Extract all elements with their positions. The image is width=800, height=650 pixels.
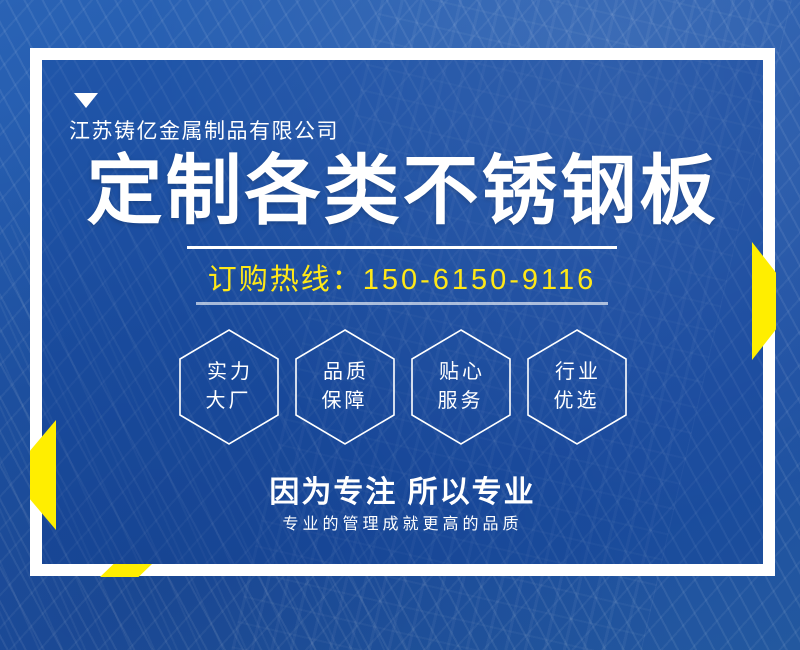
hotline-rule-bottom xyxy=(196,302,609,305)
badge-row: 实力 大厂 品质 保障 贴心 服务 行业 优选 xyxy=(42,328,763,446)
badge-hexagon-1: 实力 大厂 xyxy=(177,328,281,446)
hotline-number: 150-6150-9116 xyxy=(363,264,597,296)
badge-hexagon-4: 行业 优选 xyxy=(525,328,629,446)
badge-hexagon-3: 贴心 服务 xyxy=(409,328,513,446)
headline: 定制各类不锈钢板 xyxy=(42,154,763,230)
hotline-label: 订购热线： xyxy=(208,264,363,296)
badge-label-4: 行业 优选 xyxy=(552,358,601,416)
company-name: 江苏铸亿金属制品有限公司 xyxy=(69,115,339,145)
banner-content: 江苏铸亿金属制品有限公司 定制各类不锈钢板 订购热线：150-6150-9116… xyxy=(42,60,763,564)
slogan-subtitle: 专业的管理成就更高的品质 xyxy=(42,510,763,534)
badge-label-3: 贴心 服务 xyxy=(436,358,485,416)
hotline-text: 订购热线：150-6150-9116 xyxy=(187,249,617,302)
badge-label-1: 实力 大厂 xyxy=(204,358,253,416)
badge-hexagon-2: 品质 保障 xyxy=(293,328,397,446)
triangle-marker-icon xyxy=(74,93,98,108)
promo-banner: 江苏铸亿金属制品有限公司 定制各类不锈钢板 订购热线：150-6150-9116… xyxy=(0,0,800,650)
hotline-block: 订购热线：150-6150-9116 xyxy=(187,246,617,305)
badge-label-2: 品质 保障 xyxy=(320,358,369,416)
slogan: 因为专注 所以专业 xyxy=(42,467,763,511)
